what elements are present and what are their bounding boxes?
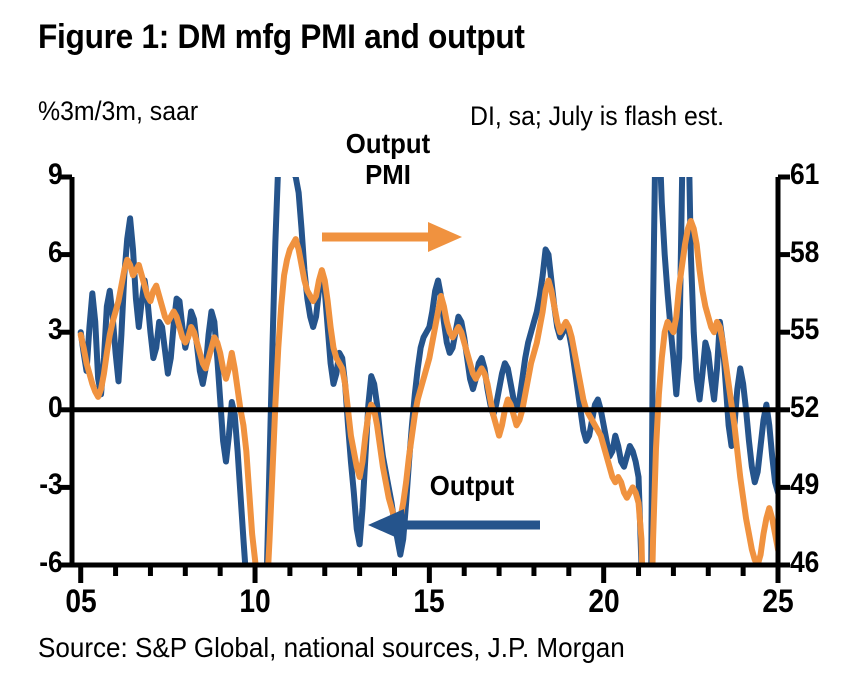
series-line-output: [81, 0, 831, 689]
source-note: Source: S&P Global, national sources, J.…: [38, 632, 625, 664]
figure-container: Figure 1: DM mfg PMI and output %3m/3m, …: [0, 0, 852, 689]
annotation-output-pmi-line1: Output: [324, 128, 453, 159]
ytick-right-label: 58: [790, 236, 819, 270]
ytick-right-label: 52: [790, 391, 819, 425]
ytick-right-label: 61: [790, 158, 819, 192]
xtick-label: 20: [588, 583, 619, 620]
ytick-left-label: -6: [40, 546, 63, 580]
ytick-right-label: 46: [790, 546, 819, 580]
ytick-left-label: 3: [48, 313, 63, 347]
ytick-right-label: 49: [790, 468, 819, 502]
xtick-label: 25: [762, 583, 793, 620]
ytick-left-label: 9: [48, 158, 63, 192]
annotation-output: Output: [408, 470, 537, 502]
annotation-output-pmi-line2: PMI: [324, 159, 453, 190]
xtick-label: 15: [414, 583, 445, 620]
arrow-to-right-axis-icon: [322, 222, 462, 252]
annotation-output-pmi: Output PMI: [324, 128, 453, 191]
ytick-left-label: 6: [48, 236, 63, 270]
series-line-output-pmi: [81, 221, 831, 689]
ytick-right-label: 55: [790, 313, 819, 347]
ytick-left-label: 0: [48, 391, 63, 425]
arrow-to-left-axis-icon: [368, 509, 540, 541]
xtick-label: 05: [65, 583, 96, 620]
ytick-left-label: -3: [40, 468, 63, 502]
xtick-label: 10: [239, 583, 270, 620]
